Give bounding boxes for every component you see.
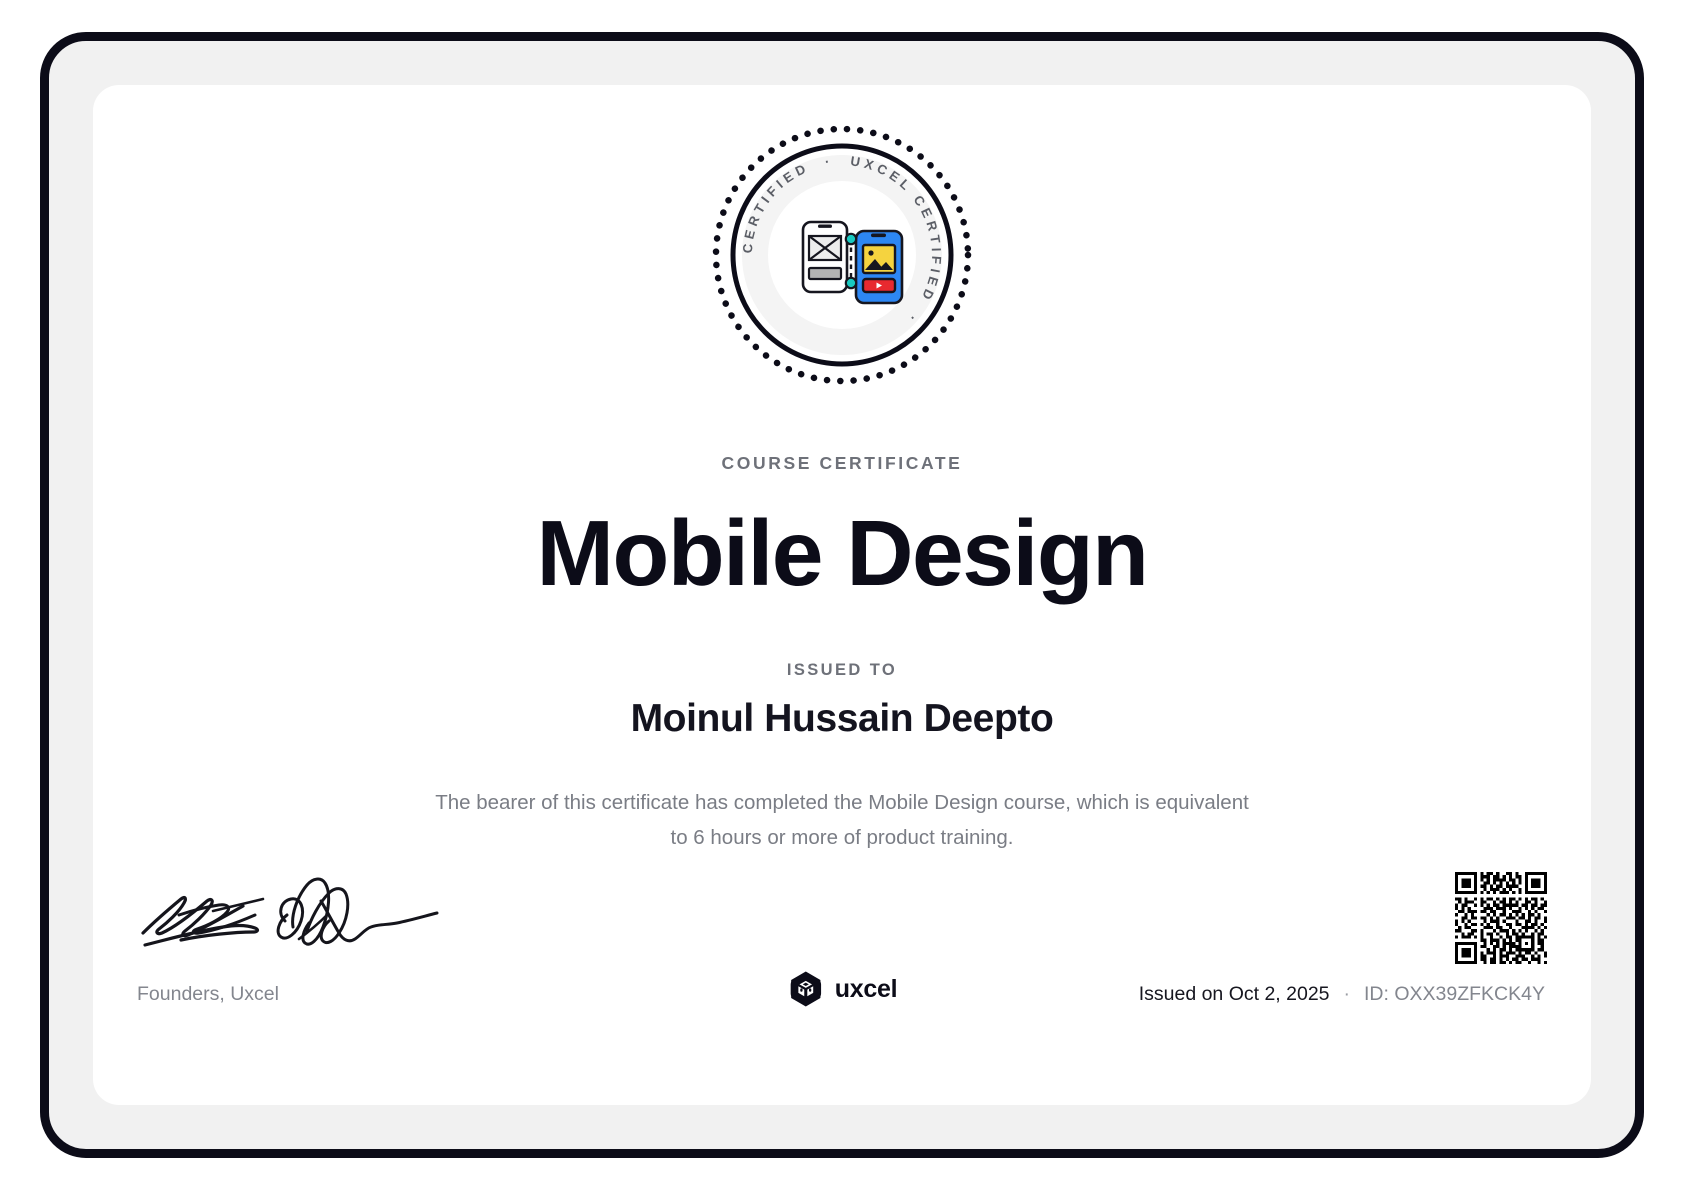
- certified-seal: UXCEL CERTIFIED · UXCEL CERTIFIED ·: [708, 121, 976, 389]
- qr-code-graphic: [1455, 872, 1547, 964]
- seal-handle-bottom: [846, 278, 856, 288]
- issued-to-label: ISSUED TO: [93, 661, 1591, 680]
- issued-date: Issued on Oct 2, 2025: [1139, 983, 1330, 1006]
- seal-wireframe-phone: [803, 222, 847, 292]
- signature-caption: Founders, Uxcel: [137, 983, 279, 1006]
- uxcel-brand: uxcel: [787, 970, 897, 1008]
- certificate-card: UXCEL CERTIFIED · UXCEL CERTIFIED ·: [93, 85, 1591, 1105]
- course-title: Mobile Design: [93, 500, 1591, 607]
- description-line-1: The bearer of this certificate has compl…: [435, 791, 1129, 814]
- signature-graphic: [135, 871, 465, 961]
- recipient-name: Moinul Hussain Deepto: [93, 697, 1591, 741]
- seal-blue-phone: [856, 231, 902, 303]
- certified-seal-graphic: UXCEL CERTIFIED · UXCEL CERTIFIED ·: [708, 121, 976, 389]
- seal-handle-top: [846, 234, 856, 244]
- certificate-id: ID: OXX39ZFKCK4Y: [1364, 983, 1545, 1006]
- uxcel-brand-name: uxcel: [835, 975, 897, 1004]
- certificate-frame: UXCEL CERTIFIED · UXCEL CERTIFIED ·: [40, 32, 1644, 1158]
- founder-signatures: [135, 871, 465, 961]
- meta-separator: ·: [1330, 983, 1365, 1006]
- certificate-meta: Issued on Oct 2, 2025 · ID: OXX39ZFKCK4Y: [1139, 983, 1545, 1006]
- verification-qr-code[interactable]: [1455, 872, 1547, 964]
- certificate-kicker: COURSE CERTIFICATE: [93, 453, 1591, 474]
- uxcel-hexagon-cube-logo-icon: [787, 970, 825, 1008]
- certificate-description: The bearer of this certificate has compl…: [432, 785, 1252, 856]
